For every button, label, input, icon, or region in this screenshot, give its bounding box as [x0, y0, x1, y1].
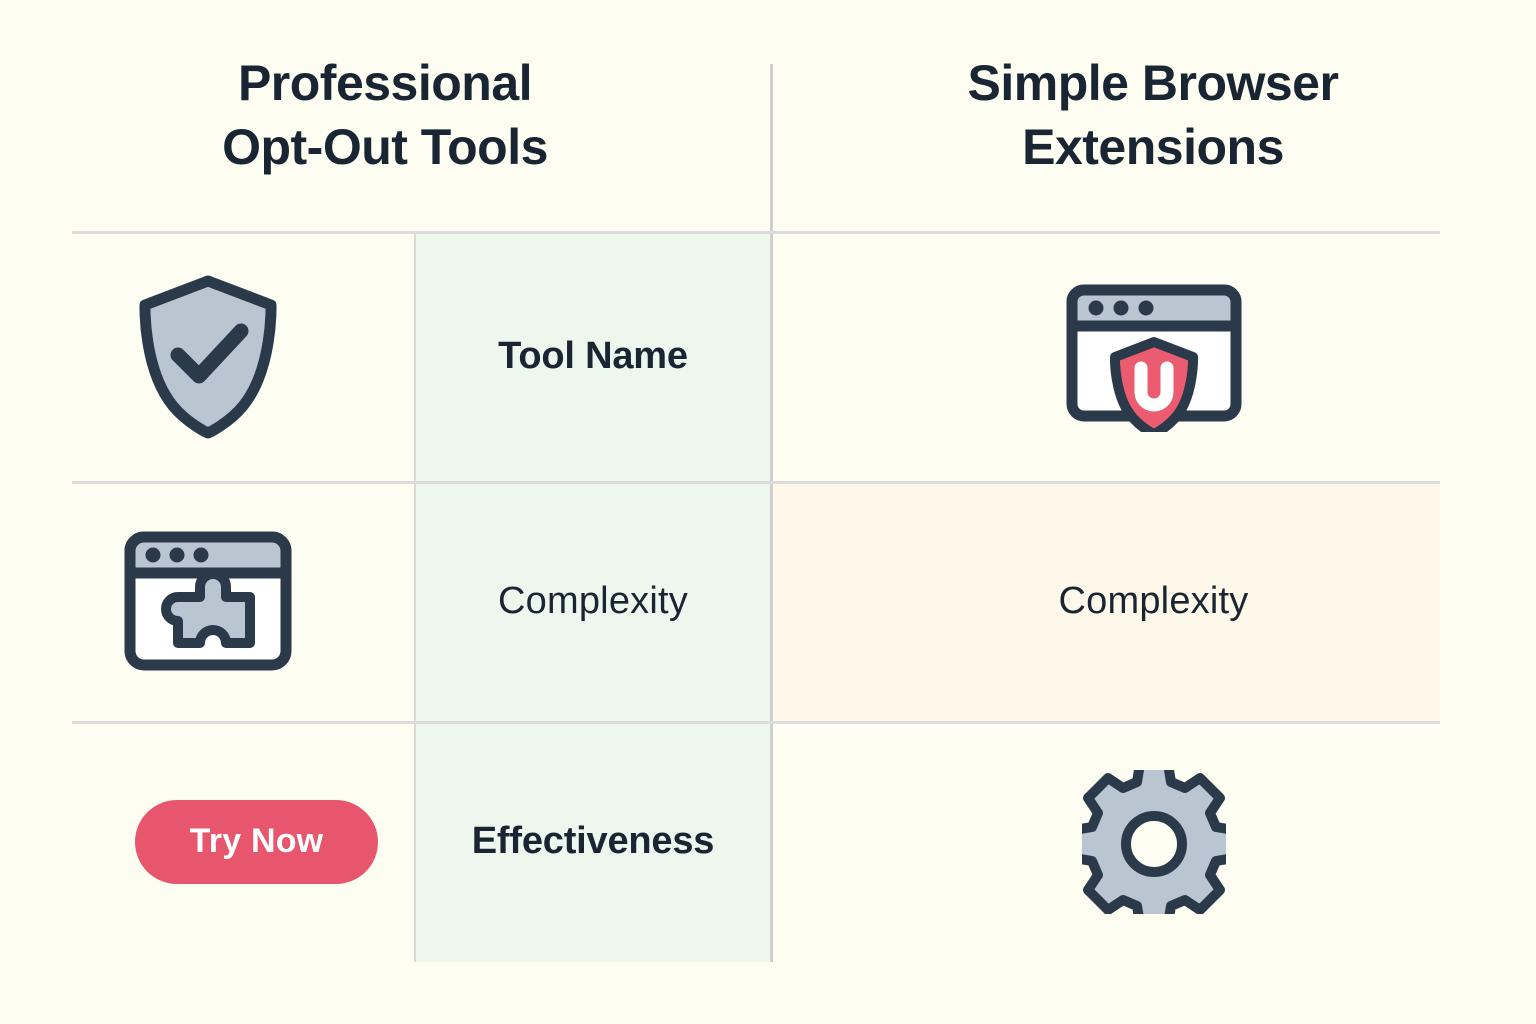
table-row: Complexity Complexity [0, 481, 1536, 721]
try-now-button[interactable]: Try Now [135, 800, 378, 884]
cell-left-effectiveness: Try Now [0, 721, 415, 962]
table-row: Tool Name [0, 232, 1536, 481]
cell-right-complexity: Complexity [771, 481, 1536, 721]
table-row: Try Now Effectiveness [0, 721, 1536, 962]
cell-center-tool-name: Tool Name [415, 232, 771, 481]
header-title-left: Professional Opt-Out Tools [222, 52, 548, 179]
cell-left-complexity [0, 481, 415, 721]
header-title-right: Simple Browser Extensions [968, 52, 1339, 179]
cell-center-complexity: Complexity [415, 481, 771, 721]
cell-left-tool-name [0, 232, 415, 481]
cell-right-effectiveness [771, 721, 1536, 962]
cell-right-tool-name [771, 232, 1536, 481]
table-body: Tool Name [0, 232, 1536, 962]
header-cell-right: Simple Browser Extensions [770, 0, 1536, 231]
cell-center-effectiveness: Effectiveness [415, 721, 771, 962]
shield-check-icon [133, 273, 283, 441]
browser-shield-u-icon [1063, 282, 1245, 432]
table-header-row: Professional Opt-Out Tools Simple Browse… [0, 0, 1536, 231]
comparison-table-board: Professional Opt-Out Tools Simple Browse… [0, 0, 1536, 1024]
row-label-complexity-center: Complexity [498, 580, 688, 623]
header-cell-left: Professional Opt-Out Tools [0, 0, 770, 231]
browser-puzzle-icon [122, 529, 294, 673]
gear-icon [1082, 770, 1226, 914]
row-label-tool-name: Tool Name [498, 335, 688, 378]
row-label-effectiveness: Effectiveness [472, 820, 714, 863]
row-label-complexity-right: Complexity [1059, 580, 1249, 623]
